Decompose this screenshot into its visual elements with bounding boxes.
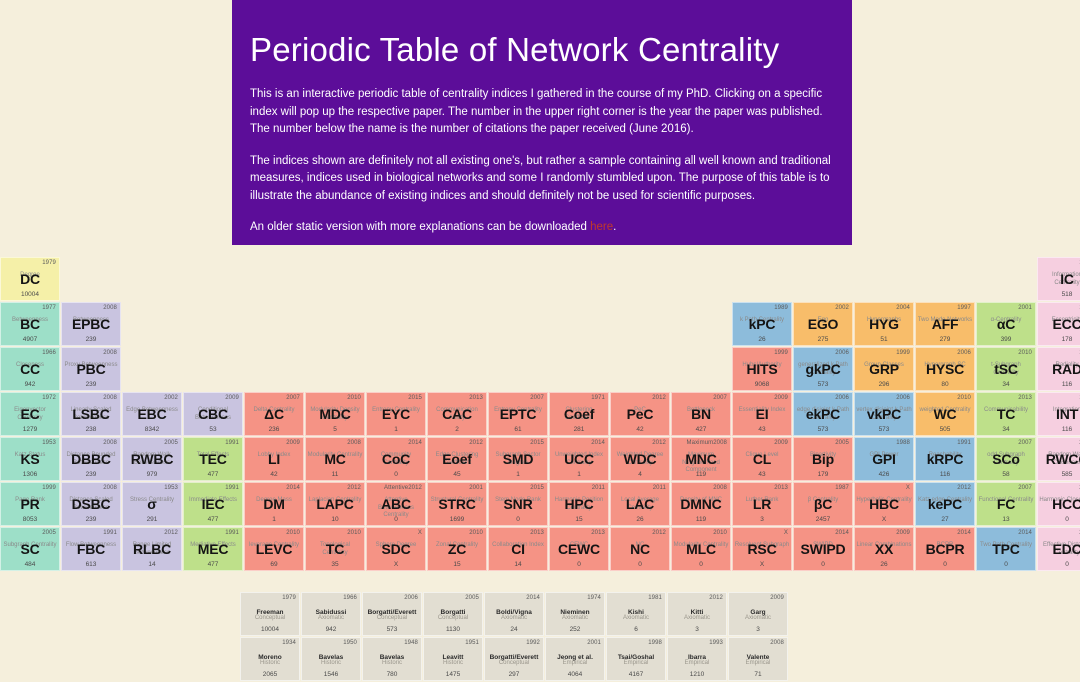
element-abbreviation: RSC [733,541,791,558]
element-cell-int[interactable]: 1998IntegrationINT116 [1037,392,1080,436]
element-citation-count: 505 [916,426,974,434]
element-abbreviation: RAD [1038,361,1080,378]
reference-citation-count: 1475 [424,671,482,679]
reference-year: 1992 [526,639,540,647]
element-year: 2005 [164,439,178,447]
element-abbreviation: DM [245,496,303,513]
reference-cell-kishi[interactable]: 1981AxiomaticKishi6 [606,592,666,636]
element-year: 2011 [653,484,666,492]
reference-citation-count: 252 [546,626,604,634]
element-abbreviation: DMNC [672,496,730,513]
element-year: 2012 [652,439,666,447]
element-cell-cbc[interactable]: 2009Conditional BetweennessCBC53 [183,392,243,436]
element-cell-mdc[interactable]: 2010Modularity Density CentralityMDC5 [305,392,365,436]
element-cell-hysc[interactable]: 2006Hypergraph SCHYSC80 [915,347,975,391]
reference-year: 2009 [770,594,784,602]
element-citation-count: 2457 [794,516,852,524]
reference-author: Jeong et al. [546,654,604,662]
element-cell-sdc[interactable]: XSphere DegreeSDCX [366,527,426,571]
element-citation-count: 518 [1038,291,1080,299]
reference-author: Nieminen [546,609,604,617]
element-year: 2007 [1018,484,1032,492]
element-year: 1999 [774,349,788,357]
element-abbreviation: LAC [611,496,669,513]
element-year: 2006 [835,349,849,357]
element-citation-count: X [733,561,791,569]
reference-cell-borgatti[interactable]: 2005ConceptualBorgatti1130 [423,592,483,636]
reference-cell-tsaigoshal[interactable]: 1998EmpiricalTsai/Goshal4167 [606,637,666,681]
reference-cell-borgattieverett[interactable]: 1992ConceptualBorgatti/Everett297 [484,637,544,681]
element-citation-count: 979 [123,471,181,479]
empty-slot [366,347,426,391]
reference-citation-count: 71 [729,671,787,679]
element-citation-count: 942 [1,381,59,389]
element-cell-c[interactable]: 1987β CentralityβC2457 [793,482,853,526]
element-cell-rwbc[interactable]: 2005Random Walk BetweennessRWBC979 [122,437,182,481]
element-cell-lac[interactable]: 2011Local Average CentralityLAC26 [610,482,670,526]
element-cell-swipd[interactable]: 2014SWIPDSWIPD0 [793,527,853,571]
reference-cell-kitti[interactable]: 2012AxiomaticKitti3 [667,592,727,636]
empty-slot [183,257,243,301]
reference-year: 1979 [282,594,296,602]
element-abbreviation: kePC [916,496,974,513]
element-abbreviation: GRP [855,361,913,378]
element-abbreviation: STRC [428,496,486,513]
element-cell-zc[interactable]: 2010Zonal CentralityZC15 [427,527,487,571]
element-abbreviation: DBBC [62,451,120,468]
reference-cell-bavelas[interactable]: 1950HistoricBavelas1546 [301,637,361,681]
element-citation-count: 239 [62,381,120,389]
element-cell-abc[interactable]: Attentive2012Attentive Betweenness Centr… [366,482,426,526]
periodic-table-grid: 1979DegreeDC100041989Information Central… [0,257,1080,571]
reference-cell-boldivigna[interactable]: 2014AxiomaticBoldi/Vigna24 [484,592,544,636]
element-year: 1953 [164,484,178,492]
element-abbreviation: tSC [977,361,1035,378]
reference-author: Borgatti [424,609,482,617]
reference-cell-jeongetal[interactable]: 2001EmpiricalJeong et al.4064 [545,637,605,681]
element-cell-gkpc[interactable]: 2006generalized k Path CentralitygkPC573 [793,347,853,391]
element-citation-count: 573 [794,426,852,434]
element-cell-edc[interactable]: 2015Effective Distance CentralityEDC0 [1037,527,1080,571]
element-cell-mlc[interactable]: 2010Modularity CentralityMLC0 [671,527,731,571]
reference-author: Kitti [668,609,726,617]
element-cell-iec[interactable]: 1991Immediate EffectsIEC477 [183,482,243,526]
element-abbreviation: SCo [977,451,1035,468]
empty-slot [244,302,304,346]
empty-slot [61,257,121,301]
element-citation-count: 116 [916,471,974,479]
element-year: 2001 [1018,304,1032,312]
element-year: 2008 [103,349,117,357]
element-citation-count: 15 [550,516,608,524]
empty-slot [488,302,548,346]
empty-slot [244,257,304,301]
element-citation-count: 26 [611,516,669,524]
element-citation-count: 0 [550,561,608,569]
element-cell-c[interactable]: 2001α-CentralityαC399 [976,302,1036,346]
element-cell-cac[interactable]: 2013Communication AbilityCAC2 [427,392,487,436]
element-abbreviation: XX [855,541,913,558]
reference-year: 2008 [770,639,784,647]
element-citation-count: 281 [550,426,608,434]
reference-year: 1981 [648,594,662,602]
element-cell-epbc[interactable]: 2008BetweennessEPBC239 [61,302,121,346]
element-cell-levc[interactable]: 2010leverage CentralityLEVC69 [244,527,304,571]
element-cell-tc[interactable]: 2013CommunicabilityTC34 [976,392,1036,436]
element-abbreviation: Coef [550,406,608,423]
element-cell-lsbc[interactable]: 2008Linearly Scaled BetweennessLSBC238 [61,392,121,436]
reference-author: Borgatti/Everett [363,609,421,617]
element-year: 2008 [103,484,117,492]
element-year: 2014 [591,439,605,447]
element-year: 1953 [42,439,56,447]
element-cell-cewc[interactable]: 2013CEWCCEWC0 [549,527,609,571]
element-year: 2009 [286,439,300,447]
element-abbreviation: kRPC [916,451,974,468]
element-abbreviation: SC [1,541,59,558]
element-cell-pec[interactable]: 2012PeCPeC42 [610,392,670,436]
element-abbreviation: kPC [733,316,791,333]
element-year: 2010 [347,529,361,537]
element-cell-mec[interactable]: 1991Mediative EffectsMEC477 [183,527,243,571]
element-cell-fbc[interactable]: 1991Flow BetweennessFBC613 [61,527,121,571]
element-year: 2014 [408,439,422,447]
element-citation-count: 1279 [1,426,59,434]
header-banner: Periodic Table of Network Centrality Thi… [232,0,852,245]
element-cell-hcc[interactable]: 2014Harmonic ClosenessHCC0 [1037,482,1080,526]
element-abbreviation: EC [1,406,59,423]
reference-cell-moreno[interactable]: 1934HistoricMoreno2065 [240,637,300,681]
element-cell-eyc[interactable]: 2015Entropy CentralityEYC1 [366,392,426,436]
reference-year: 2012 [709,594,723,602]
element-abbreviation: ZC [428,541,486,558]
element-cell-pr[interactable]: 1999Page RankPR8053 [0,482,60,526]
element-year: 1991 [957,439,971,447]
element-year: 2002 [164,394,178,402]
reference-cell-freeman[interactable]: 1979ConceptualFreeman10004 [240,592,300,636]
element-year: 1977 [42,304,56,312]
element-cell-rlbc[interactable]: 2012Range Limited BetweennessRLBC14 [122,527,182,571]
element-cell-c[interactable]: 2007Delta CentralityΔC236 [244,392,304,436]
element-cell-coc[interactable]: 2014Community CentralityCoC0 [366,437,426,481]
element-abbreviation: PeC [611,406,669,423]
element-abbreviation: MEC [184,541,242,558]
element-year: 1979 [42,259,56,267]
reference-author: Garg [729,609,787,617]
element-cell-snr[interactable]: 2015Stem Node RankSNR0 [488,482,548,526]
element-abbreviation: ABC [367,496,425,513]
element-year: 2013 [469,394,483,402]
element-cell-krpc[interactable]: 1991ReachabilitykRPC116 [915,437,975,481]
element-abbreviation: PR [1,496,59,513]
element-abbreviation: MLC [672,541,730,558]
element-cell-sc[interactable]: 2005Subgraph CentralitySC484 [0,527,60,571]
element-cell-ucc[interactable]: 2014Unweighted Index CentralityUCC1 [549,437,609,481]
element-cell-rwcc[interactable]: 2004Random Walk ClosenessRWCC585 [1037,437,1080,481]
empty-slot [549,302,609,346]
element-citation-count: 26 [733,336,791,344]
element-cell-rad[interactable]: 1998RadialityRAD116 [1037,347,1080,391]
element-citation-count: 613 [62,561,120,569]
element-cell-aff[interactable]: 1997Two Mode NetworksAFF279 [915,302,975,346]
element-citation-count: 51 [855,336,913,344]
element-cell-dmnc[interactable]: 2008Density of MNCDMNC119 [671,482,731,526]
element-year: 2005 [835,439,849,447]
element-cell-tsc[interactable]: 2010t-Subgraph CentralitytSC34 [976,347,1036,391]
reference-citation-count: 1210 [668,671,726,679]
reference-citation-count: 4064 [546,671,604,679]
element-citation-count: 238 [62,426,120,434]
empty-slot [549,257,609,301]
element-citation-count: 1 [489,471,547,479]
element-cell-mc[interactable]: 2008Modularity CentralityMC11 [305,437,365,481]
element-cell-hpc[interactable]: 2011Harmonic Position CentralityHPC15 [549,482,609,526]
empty-slot [366,302,426,346]
element-cell-tec[interactable]: 1991Total EffectsTEC477 [183,437,243,481]
element-year: 2006 [835,394,849,402]
empty-slot [427,257,487,301]
element-cell-eoef[interactable]: 2012Edge Clustering CoefficientEoef45 [427,437,487,481]
element-abbreviation: WDC [611,451,669,468]
element-citation-count: 0 [794,561,852,569]
element-cell-lapc[interactable]: 2012Laplacian CentralityLAPC10 [305,482,365,526]
element-cell-wdc[interactable]: 2012Weighted Degree CentralityWDC4 [610,437,670,481]
element-abbreviation: IEC [184,496,242,513]
element-year: 2006 [957,349,971,357]
element-year: 1971 [591,394,605,402]
element-year: 2012 [347,484,361,492]
element-citation-count: 0 [916,561,974,569]
element-year: 2012 [469,439,483,447]
element-abbreviation: ekPC [794,406,852,423]
element-cell-nc[interactable]: 2012NCNC0 [610,527,670,571]
element-cell-dm[interactable]: 2014Degree MassDM1 [244,482,304,526]
element-abbreviation: LEVC [245,541,303,558]
element-year: 1989 [774,304,788,312]
element-cell-gpi[interactable]: 1988GPI PowerGPI426 [854,437,914,481]
element-abbreviation: CoC [367,451,425,468]
element-abbreviation: MDC [306,406,364,423]
element-cell-kepc[interactable]: 2012Katz edge CentralitykePC27 [915,482,975,526]
empty-slot [610,302,670,346]
element-cell-bc[interactable]: 1977BetweennessBC4907 [0,302,60,346]
element-cell-ks[interactable]: 1953Katz StatusKS1306 [0,437,60,481]
reference-author: Kishi [607,609,665,617]
empty-slot [366,257,426,301]
reference-citation-count: 3 [668,626,726,634]
element-abbreviation: EBC [123,406,181,423]
element-abbreviation: PBC [62,361,120,378]
empty-slot [793,257,853,301]
element-year: 2015 [408,394,422,402]
reference-cell-bavelas[interactable]: 1948HistoricBavelas780 [362,637,422,681]
element-cell-ecc[interactable]: 1995EccentricityECC178 [1037,302,1080,346]
reference-year: 1934 [282,639,296,647]
element-abbreviation: Bip [794,451,852,468]
reference-year: 1951 [465,639,479,647]
element-cell-ebc[interactable]: 2002Edge BetweennessEBC8342 [122,392,182,436]
element-abbreviation: RWBC [123,451,181,468]
reference-cell-garg[interactable]: 2009AxiomaticGarg3 [728,592,788,636]
element-cell-dbbc[interactable]: 2008Distance Bounded BetweennessDBBC239 [61,437,121,481]
element-cell-cc[interactable]: 1966ClosenessCC942 [0,347,60,391]
element-abbreviation: TPC [977,541,1035,558]
element-cell-hyg[interactable]: 2004HypergraphsHYG51 [854,302,914,346]
element-abbreviation: ECC [1038,316,1080,333]
element-abbreviation: IC [1038,271,1080,288]
reference-cell-valente[interactable]: 2008EmpiricalValente71 [728,637,788,681]
element-year: 2005 [42,529,56,537]
element-year: 2008 [103,394,117,402]
reference-author: Tsai/Goshal [607,654,665,662]
element-cell-tc[interactable]: 2010Topological CentralityTC35 [305,527,365,571]
element-abbreviation: ΔC [245,406,303,423]
empty-slot [732,257,792,301]
reference-cell-borgattieverett[interactable]: 2006ConceptualBorgatti/Everett573 [362,592,422,636]
element-year: 2009 [774,394,788,402]
element-abbreviation: RWCC [1038,451,1080,468]
element-cell-smd[interactable]: 2015Subgraph Sector DegreeSMD1 [488,437,548,481]
element-year: X [906,484,910,492]
element-abbreviation: FC [977,496,1035,513]
element-cell-dsbc[interactable]: 2008Distance Scaled BetweennessDSBC239 [61,482,121,526]
element-year: 2007 [286,394,300,402]
element-citation-count: 43 [733,426,791,434]
element-year: 2007 [713,394,727,402]
element-citation-count: 45 [428,471,486,479]
element-citation-count: 15 [428,561,486,569]
element-citation-count: 427 [672,426,730,434]
reference-cell-ibarra[interactable]: 1993EmpiricalIbarra1210 [667,637,727,681]
element-abbreviation: vkPC [855,406,913,423]
element-citation-count: 484 [1,561,59,569]
element-cell-bcpr[interactable]: 2014BCPRBCPR0 [915,527,975,571]
element-cell-mnc[interactable]: Maximum2008Maximum Neighborhood Componen… [671,437,731,481]
element-year: 2013 [530,529,544,537]
element-cell-kpc[interactable]: 1989k Path CentralitykPC26 [732,302,792,346]
reference-citation-count: 10004 [241,626,299,634]
element-cell-hits[interactable]: 1999Hubs/AuthorityHITS9068 [732,347,792,391]
element-year: Maximum2008 [687,439,727,447]
element-abbreviation: MC [306,451,364,468]
element-citation-count: 26 [855,561,913,569]
element-abbreviation: CEWC [550,541,608,558]
element-abbreviation: CC [1,361,59,378]
element-cell-hbc[interactable]: XHyperbolic CentralityHBCX [854,482,914,526]
element-cell-tpc[interactable]: 2014Two Path CentralityTPC0 [976,527,1036,571]
element-abbreviation: DSBC [62,496,120,513]
element-abbreviation: CBC [184,406,242,423]
element-citation-count: 279 [916,336,974,344]
element-year: 2015 [530,439,544,447]
element-citation-count: 0 [977,561,1035,569]
element-cell-ec[interactable]: 1972Eigenvector CentralityEC1279 [0,392,60,436]
empty-slot [122,302,182,346]
element-abbreviation: HITS [733,361,791,378]
element-abbreviation: CL [733,451,791,468]
element-abbreviation: HBC [855,496,913,513]
element-abbreviation: WC [916,406,974,423]
element-year: 2007 [530,394,544,402]
element-citation-count: 119 [672,471,730,479]
element-cell-li[interactable]: 2009Lobby IndexLI42 [244,437,304,481]
element-citation-count: 0 [672,561,730,569]
element-cell-dc[interactable]: 1979DegreeDC10004 [0,257,60,301]
element-cell-ekpc[interactable]: 2006edge disjoint k Path CentralityekPC5… [793,392,853,436]
element-abbreviation: αC [977,316,1035,333]
element-year: 2009 [225,394,239,402]
element-cell-sco[interactable]: 2007odd Subgraph CentralitySCo58 [976,437,1036,481]
element-cell-coef[interactable]: 1971Clustering CoefficientCoef281 [549,392,609,436]
element-cell-ic[interactable]: 1989Information CentralityIC518 [1037,257,1080,301]
element-cell-xx[interactable]: 2009Linear CombinationsXX26 [854,527,914,571]
element-citation-count: 0 [367,471,425,479]
element-cell-vkpc[interactable]: 2006vertex disjoint k Path CentralityvkP… [854,392,914,436]
element-cell-fc[interactable]: 2007Functional CentralityFC13 [976,482,1036,526]
reference-author: Boldi/Vigna [485,609,543,617]
element-citation-count: 1 [367,426,425,434]
element-citation-count: 8053 [1,516,59,524]
element-year: 2013 [1018,394,1032,402]
element-cell-ei[interactable]: 2009Essentiality IndexEI43 [732,392,792,436]
element-abbreviation: KS [1,451,59,468]
element-citation-count: 34 [977,426,1035,434]
element-cell-[interactable]: 1953Stress Centralityσ291 [122,482,182,526]
element-cell-wc[interactable]: 2010weighted CentralityWC505 [915,392,975,436]
download-link[interactable]: here [590,221,613,233]
element-cell-rsc[interactable]: XResolvent SubgraphRSCX [732,527,792,571]
element-citation-count: 0 [611,561,669,569]
reference-cell-nieminen[interactable]: 1974AxiomaticNieminen252 [545,592,605,636]
element-cell-cl[interactable]: 2009Clique LevelCL43 [732,437,792,481]
element-abbreviation: NC [611,541,669,558]
reference-cell-sabidussi[interactable]: 1966AxiomaticSabidussi942 [301,592,361,636]
element-abbreviation: SDC [367,541,425,558]
element-citation-count: 399 [977,336,1035,344]
element-cell-bn[interactable]: 2007BottleneckBN427 [671,392,731,436]
element-abbreviation: CAC [428,406,486,423]
element-abbreviation: BC [1,316,59,333]
element-cell-grp[interactable]: 1999Group ClassesGRP296 [854,347,914,391]
empty-slot [610,347,670,391]
element-citation-count: 0 [1038,561,1080,569]
page-title: Periodic Table of Network Centrality [250,30,834,70]
element-abbreviation: βC [794,496,852,513]
element-cell-pbc[interactable]: 2008Proxy BetweennessPBC239 [61,347,121,391]
element-cell-bip[interactable]: 2005BipartivityBip179 [793,437,853,481]
element-cell-strc[interactable]: 2001Structural CentralitySTRC1699 [427,482,487,526]
element-cell-lr[interactable]: 2013Luther RankLR3 [732,482,792,526]
reference-citation-count: 297 [485,671,543,679]
element-abbreviation: HPC [550,496,608,513]
element-citation-count: 8342 [123,426,181,434]
element-cell-ego[interactable]: 2002EgoEGO275 [793,302,853,346]
reference-year: 2014 [526,594,540,602]
element-abbreviation: HYSC [916,361,974,378]
element-cell-eptc[interactable]: 2007Entropy CentralityEPTC61 [488,392,548,436]
element-abbreviation: FBC [62,541,120,558]
reference-cell-leavitt[interactable]: 1951HistoricLeavitt1475 [423,637,483,681]
empty-slot [976,257,1036,301]
intro-paragraph-2: The indices shown are definitely not all… [250,153,834,206]
element-year: X [784,529,788,537]
element-year: 2012 [652,529,666,537]
element-citation-count: 239 [62,516,120,524]
element-cell-ci[interactable]: 2013Collaboration IndexCI14 [488,527,548,571]
element-citation-count: 61 [489,426,547,434]
element-citation-count: 573 [794,381,852,389]
element-year: 2008 [103,304,117,312]
